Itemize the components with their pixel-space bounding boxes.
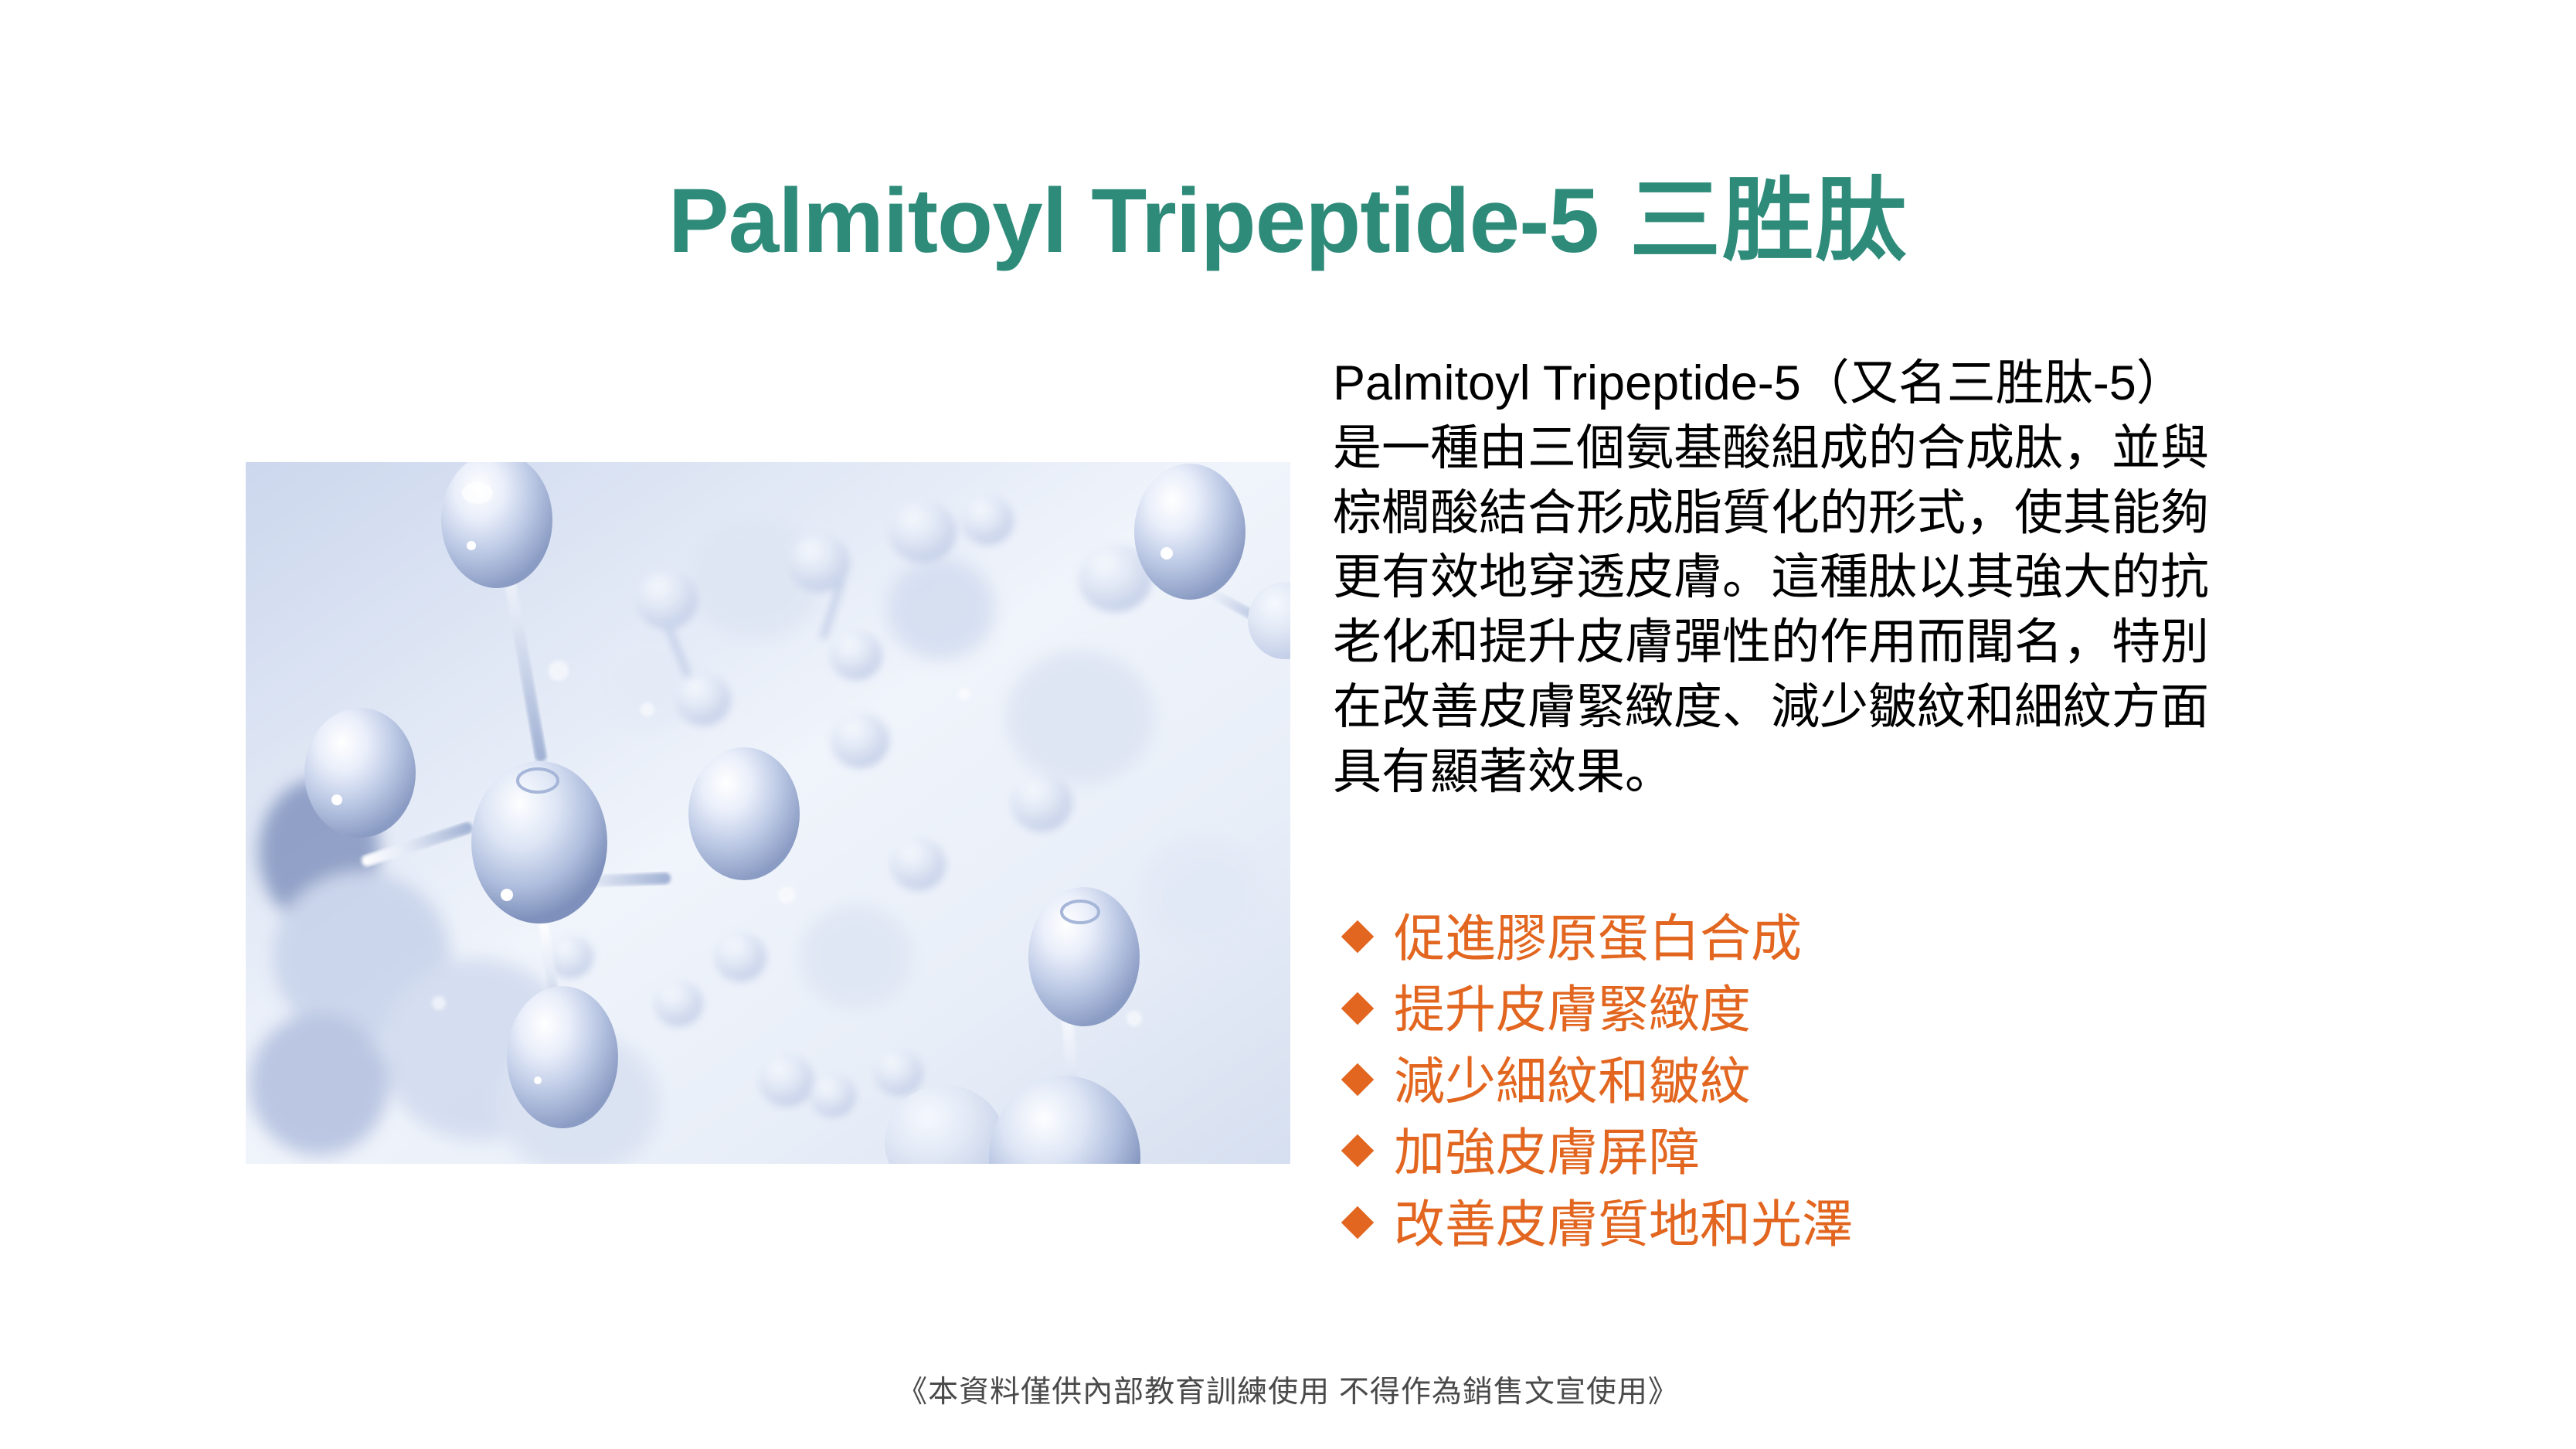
list-item: 加強皮膚屏障	[1346, 1117, 2408, 1188]
paragraph-line: Palmitoyl Tripeptide-5（又名三胜肽-5）	[1333, 352, 2395, 417]
page-title-english: Palmitoyl Tripeptide-5	[668, 170, 1599, 272]
paragraph-line: 更有效地穿透皮膚。這種肽以其強大的抗	[1333, 546, 2395, 611]
diamond-bullet-icon	[1341, 1206, 1374, 1239]
page-title-chinese: 三胜肽	[1630, 170, 1908, 272]
paragraph-line: 是一種由三個氨基酸組成的合成肽，並與	[1333, 417, 2395, 481]
paragraph-line: 老化和提升皮膚彈性的作用而聞名，特別	[1333, 611, 2395, 675]
paragraph-line: 棕櫚酸結合形成脂質化的形式，使其能夠	[1333, 481, 2395, 546]
diamond-bullet-icon	[1341, 992, 1374, 1024]
list-item: 促進膠原蛋白合成	[1346, 903, 2408, 974]
list-item: 改善皮膚質地和光澤	[1346, 1189, 2408, 1260]
description-paragraph: Palmitoyl Tripeptide-5（又名三胜肽-5） 是一種由三個氨基…	[1333, 352, 2395, 804]
molecule-illustration	[246, 462, 1290, 1164]
molecule-structure-image	[246, 462, 1290, 1164]
paragraph-line: 在改善皮膚緊緻度、減少皺紋和細紋方面	[1333, 675, 2395, 740]
list-item-label: 促進膠原蛋白合成	[1394, 903, 1802, 974]
paragraph-line: 具有顯著效果。	[1333, 740, 2395, 805]
list-item-label: 改善皮膚質地和光澤	[1394, 1189, 1853, 1260]
benefits-list: 促進膠原蛋白合成 提升皮膚緊緻度 減少細紋和皺紋 加強皮膚屏障 改善皮膚質地和光…	[1346, 903, 2408, 1260]
diamond-bullet-icon	[1341, 1134, 1374, 1167]
footer-disclaimer: 《本資料僅供內部教育訓練使用 不得作為銷售文宣使用》	[0, 1368, 2576, 1411]
list-item-label: 減少細紋和皺紋	[1394, 1046, 1751, 1117]
diamond-bullet-icon	[1341, 1063, 1374, 1096]
list-item-label: 提升皮膚緊緻度	[1394, 974, 1751, 1045]
page-title: Palmitoyl Tripeptide-5三胜肽	[0, 169, 2576, 274]
list-item: 減少細紋和皺紋	[1346, 1046, 2408, 1117]
list-item: 提升皮膚緊緻度	[1346, 974, 2408, 1045]
list-item-label: 加強皮膚屏障	[1394, 1117, 1700, 1188]
diamond-bullet-icon	[1341, 920, 1374, 953]
